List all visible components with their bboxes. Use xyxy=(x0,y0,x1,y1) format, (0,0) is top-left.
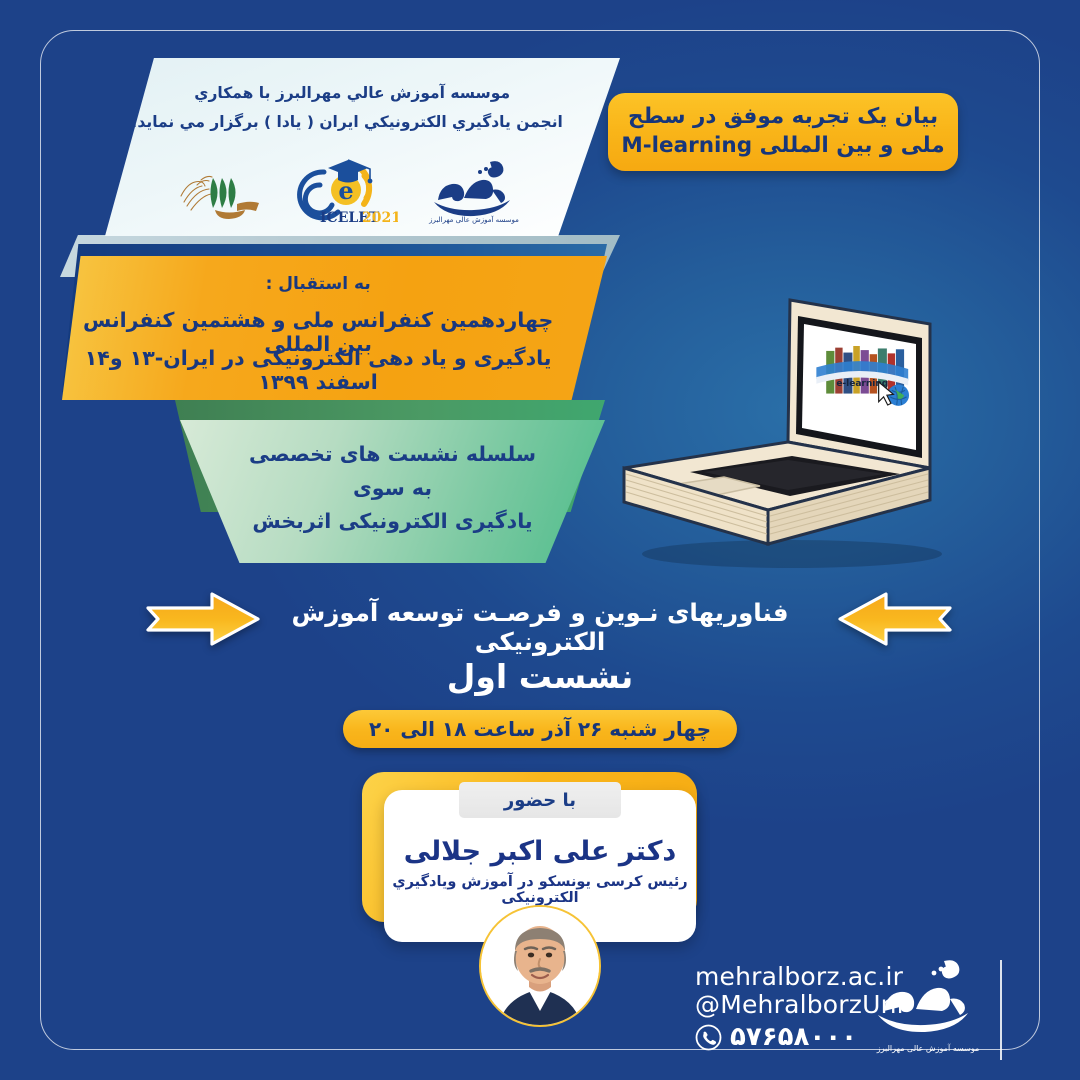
header-panel: موسسه آموزش عالي مهرالبرز با همكاري انجم… xyxy=(105,58,620,236)
footer-divider xyxy=(1000,960,1002,1060)
headline-banner-line-2: ملی و بین المللی M-learning xyxy=(621,132,944,161)
orange-line-1: به استقبال : xyxy=(73,274,564,294)
topic-title: فناوریهای نـوین و فرصـت توسعه آموزش الکت… xyxy=(250,598,830,656)
footer-mehralborz-logo: موسسه آموزش عالی مهرالبرز xyxy=(868,955,988,1060)
speaker-portrait xyxy=(479,905,601,1027)
icelet-logo: e ICELET 2021 xyxy=(294,152,398,230)
arrow-right-icon xyxy=(144,590,262,648)
topic-row: فناوریهای نـوین و فرصـت توسعه آموزش الکت… xyxy=(0,586,1080,652)
speaker-tab: با حضور xyxy=(459,782,621,818)
speaker-tab-label: با حضور xyxy=(504,790,576,811)
logo-strip: e ICELET 2021 xyxy=(105,146,599,230)
session-date-badge: چهار شنبه ۲۶ آذر ساعت ۱۸ الی ۲۰ xyxy=(343,710,737,748)
icelet-logo-year: 2021 xyxy=(362,210,398,226)
arrow-left-icon xyxy=(836,590,954,648)
mehralborz-logo: موسسه آموزش عالی مهرالبرز xyxy=(420,156,528,230)
header-line-1: موسسه آموزش عالي مهرالبرز با همكاري xyxy=(105,84,599,102)
phone-icon xyxy=(695,1024,722,1051)
green-line-3: یادگیری الکترونیکی اثربخش xyxy=(180,509,605,533)
footer-phone-number: ۵۷۶۵۸۰۰۰ xyxy=(730,1022,857,1052)
orange-line-3: یادگیری و یاد دهی الکترونیکی در ایران-۱۳… xyxy=(73,346,564,394)
orange-chevron: به استقبال : چهاردهمین کنفرانس ملی و هشت… xyxy=(62,256,607,400)
footer-phone-row[interactable]: ۵۷۶۵۸۰۰۰ xyxy=(695,1022,857,1052)
mehralborz-logo-caption: موسسه آموزش عالی مهرالبرز xyxy=(428,215,519,224)
speaker-name: دکتر علی اکبر جلالی xyxy=(384,836,696,867)
footer-logo-caption: موسسه آموزش عالی مهرالبرز xyxy=(876,1043,980,1053)
header-line-2: انجمن يادگيري الكترونيكي ايران ( يادا ) … xyxy=(105,113,589,131)
speaker-role: رئیس کرسی یونسکو در آموزش ویادگیري الکتر… xyxy=(384,874,696,906)
laptop-book-elearning-illustration: e-learning xyxy=(612,272,962,572)
yada-association-logo xyxy=(177,160,272,230)
green-line-1: سلسله نشست های تخصصی xyxy=(180,442,605,466)
headline-banner-line-1: بیان یک تجربه موفق در سطح xyxy=(628,103,938,132)
green-chevron: سلسله نشست های تخصصی به سوی یادگیری الکت… xyxy=(180,420,605,563)
headline-banner: بیان یک تجربه موفق در سطح ملی و بین المل… xyxy=(608,93,958,171)
session-title: نشست اول xyxy=(0,657,1080,696)
poster-root: موسسه آموزش عالي مهرالبرز با همكاري انجم… xyxy=(0,0,1080,1080)
green-line-2: به سوی xyxy=(180,476,605,500)
